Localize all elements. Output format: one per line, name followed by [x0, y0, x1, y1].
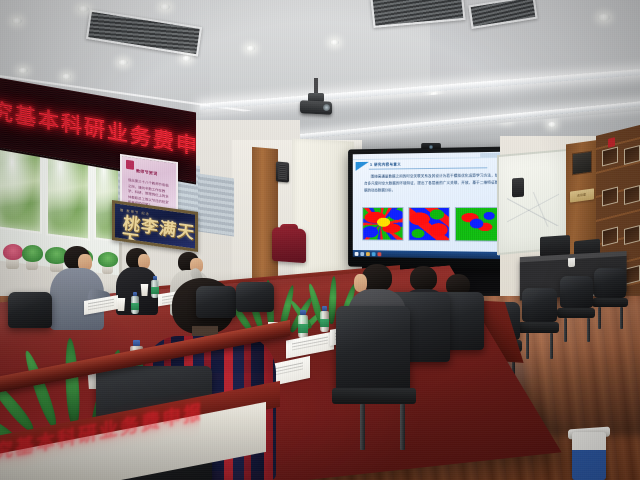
door-sign-text: 会议室: [577, 192, 586, 197]
school-crest-icon: [126, 160, 134, 170]
conference-room-photo: 究基本科研业务费申报答辩 教师节贺词 值此第三十八个教师节来临之际，谨向辛勤工作…: [0, 0, 640, 480]
bottle-label: [131, 303, 139, 310]
start-icon[interactable]: [355, 251, 359, 255]
chair-back[interactable]: [522, 288, 557, 322]
app-icon[interactable]: [377, 252, 381, 256]
slide-heading: 1 研究内容与意义: [370, 162, 401, 167]
wall-panel-frame: [624, 145, 640, 165]
water-bottle: [298, 310, 308, 338]
slide-heading-rule: [369, 167, 487, 169]
potted-plant: [3, 244, 23, 260]
bottle-label: [320, 319, 329, 327]
slide-body-text: 围绕高通量数据之间的时空关联关系及其设计为若干模拟优化运算学习方法，结合多尺度时…: [364, 172, 498, 195]
interactive-smart-display[interactable]: 1 研究内容与意义 围绕高通量数据之间的时空关联关系及其设计为若干模拟优化运算学…: [348, 146, 514, 269]
wall-panel-frame: [624, 225, 640, 245]
slide-figure-row: [362, 207, 498, 242]
downlight-icon: [548, 122, 556, 127]
heatmap-left: [362, 207, 403, 241]
chair-leg: [587, 318, 590, 342]
wall-speaker-icon: [276, 161, 289, 182]
downlight-icon: [18, 68, 28, 73]
chair-seat[interactable]: [332, 388, 416, 404]
folder-icon[interactable]: [366, 252, 370, 256]
chair-leg: [564, 318, 567, 342]
chair-back[interactable]: [236, 282, 274, 312]
chair-seat[interactable]: [557, 308, 595, 318]
downlight-icon: [118, 60, 128, 65]
recycling-bin[interactable]: [572, 432, 606, 480]
wall-speaker-icon: [512, 178, 524, 198]
chair-leg: [620, 307, 623, 329]
slide-accent-triangle-icon: [356, 162, 369, 171]
camera-lens-icon: [429, 145, 433, 149]
downlight-icon: [160, 4, 170, 10]
water-bottle: [320, 306, 329, 332]
window-blind[interactable]: [198, 173, 234, 236]
fire-alarm-icon: [608, 137, 615, 148]
downlight-icon: [598, 14, 610, 21]
windows-taskbar[interactable]: 10:42: [353, 250, 509, 259]
attendee-left-far: [48, 246, 108, 332]
downlight-icon: [330, 40, 339, 45]
downlight-icon: [246, 46, 255, 51]
water-bottle: [131, 292, 139, 314]
heatmap-right: [455, 207, 498, 242]
chair-leg: [598, 307, 601, 329]
head: [410, 266, 437, 291]
door-window: [572, 151, 592, 176]
chair-leg: [360, 404, 365, 450]
downlight-icon: [62, 74, 71, 79]
chair-back[interactable]: [8, 292, 52, 328]
wall-panel-frame: [602, 146, 618, 166]
bottle-label: [298, 324, 308, 333]
slide-topbar: [353, 152, 509, 160]
poster-title: 教师节贺词: [136, 168, 172, 179]
chair-back[interactable]: [594, 268, 626, 298]
chair-seat[interactable]: [592, 298, 628, 307]
projector-lens-icon: [323, 104, 330, 111]
browser-icon[interactable]: [372, 252, 376, 256]
chair-leg: [400, 404, 405, 450]
heatmap-middle: [408, 207, 450, 241]
potted-plant: [22, 245, 43, 262]
presentation-slide: 1 研究内容与意义 围绕高通量数据之间的时空关联关系及其设计为若干模拟优化运算学…: [353, 152, 509, 260]
wall-panel-frame: [624, 185, 640, 205]
wall-panel-frame: [602, 186, 618, 206]
chair-back[interactable]: [196, 286, 236, 318]
search-icon[interactable]: [360, 252, 364, 256]
wall-panel-frame: [602, 226, 618, 246]
presenter-chair[interactable]: [272, 227, 306, 263]
chair-back[interactable]: [336, 306, 410, 392]
downlight-icon: [182, 56, 191, 61]
downlight-icon: [12, 18, 22, 24]
chair-back[interactable]: [560, 276, 593, 308]
downlight-icon: [78, 6, 89, 12]
chair-seat[interactable]: [518, 322, 559, 333]
